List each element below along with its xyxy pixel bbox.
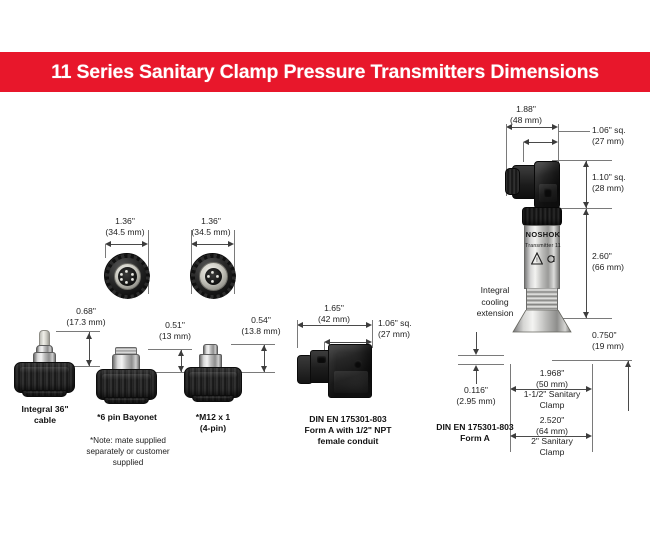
cable-arrow-up [86,333,92,339]
m12-topview-body [190,253,235,298]
tx-flange-underside [0,14,68,26]
tx-square-leader [558,131,590,132]
tx-square-arrow-right [552,139,558,145]
cable-dim-in: 0.68" [56,306,116,317]
tx-body-height-dim: 2.60" (66 mm) [592,251,646,272]
bayonet-knurled-cap [96,369,157,400]
tx-din-connector [534,161,560,209]
tx-flange-thickness-mm: (2.95 mm) [447,396,505,407]
cable-dim: 0.68" (17.3 mm) [56,306,116,327]
m12-topview-dim-mm: (34.5 mm) [181,227,241,238]
din-ext-left [297,320,298,348]
tx-overall-width-dim: 1.88" (48 mm) [497,104,555,125]
cooling-callout-line1: Integral [465,285,525,297]
m12-topview-dim: 1.36" (34.5 mm) [181,216,241,237]
din-square-dim: 1.06" sq. (27 mm) [378,318,436,339]
din-screw-hole [354,360,362,368]
tx-clamp-15-label1: 1-1/2" Sanitary [518,389,586,400]
m12-topview-dim-line [196,244,229,245]
tx-clamp-15-line [515,389,589,390]
din-caption-line1: DIN EN 175301-803 [296,414,400,425]
bayonet-topview-dim-mm: (34.5 mm) [95,227,155,238]
tx-bottom-caption: DIN EN 175301-803 Form A [425,422,525,444]
tx-clamp-2-line [515,436,589,437]
header-banner: 11 Series Sanitary Clamp Pressure Transm… [0,52,650,92]
m12-dim-in: 0.54" [231,315,291,326]
tx-flange-height-in: 0.750" [592,330,646,341]
m12-ext-top [231,344,275,345]
certification-mark-icon [547,253,558,265]
din-square-dim-in: 1.06" sq. [378,318,436,329]
cable-caption-line2: cable [6,415,84,426]
pin [211,280,214,283]
cable-ext-top [56,331,100,332]
page-title: 11 Series Sanitary Clamp Pressure Transm… [51,61,599,84]
din-square-line [329,342,367,343]
pin [131,278,134,281]
tx-thk-ext-top [458,355,504,356]
bayonet-caption: *6 pin Bayonet [86,412,168,423]
din-caption-line3: female conduit [296,436,400,447]
m12-topview-dim-in: 1.36" [181,216,241,227]
footnote-line2: separately or customer [80,446,176,457]
tx-square-ext-left [523,142,524,162]
tx-bottom-caption-line2: Form A [425,433,525,444]
bayonet-topview-dim: 1.36" (34.5 mm) [95,216,155,237]
cable-arrow-down [86,360,92,366]
tx-clamp-15-in: 1.968" [518,368,586,379]
tx-square-height-mm: (28 mm) [592,183,646,194]
m12-caption-line2: (4-pin) [176,423,250,434]
bayonet-topview-body [104,253,149,298]
svg-text:!: ! [536,258,538,264]
tx-overall-width-line [511,127,555,128]
bayonet-ext-top [148,349,192,350]
tx-clamp-2-mm: (64 mm) [518,426,586,437]
tx-model-label: Transmitter 11 [525,243,561,249]
tx-rotating-collar [522,207,562,226]
din-caption-line2: Form A with 1/2" NPT [296,425,400,436]
footnote: *Note: mate supplied separately or custo… [80,435,176,468]
tx-body-arrow-up [583,209,589,215]
din-ext-right [372,320,373,348]
pin [125,281,128,284]
tx-brand-label: NOSHOK [525,230,561,239]
tx-flange-arrow-up [625,361,631,367]
m12-dim: 0.54" (13.8 mm) [231,315,291,336]
bayonet-dim: 0.51" (13 mm) [148,320,202,341]
tx-din-screw [544,188,552,197]
tx-sanitary-flange [0,0,76,14]
bayonet-ext-left [105,244,106,258]
pin [120,273,123,276]
tx-thk-arrow-up [473,365,479,371]
cable-caption-line1: Integral 36" [6,404,84,415]
m12-knurled-cap [184,367,242,398]
tx-square-height-line [586,161,587,208]
pin [207,275,210,278]
tx-clamp-15-mm: (50 mm) [518,379,586,390]
tx-clamp-2-arrow-right [586,433,592,439]
din-width-dim-in: 1.65" [308,303,360,314]
m12-caption: *M12 x 1 (4-pin) [176,412,250,434]
bayonet-insert [118,267,137,286]
bayonet-arrow-down [178,366,184,372]
tx-clamp-ext-right [592,364,593,452]
m12-dim-mm: (13.8 mm) [231,326,291,337]
bayonet-dim-in: 0.51" [148,320,202,331]
tx-clamp-15-label2: Clamp [518,400,586,411]
bayonet-topview-dim-in: 1.36" [95,216,155,227]
warning-triangle-icon: ! [531,252,543,265]
cooling-callout-line2: cooling [465,297,525,309]
tx-bottom-caption-line1: DIN EN 175301-803 [425,422,525,433]
tx-flange-thickness-dim: 0.116" (2.95 mm) [447,385,505,406]
tx-square-height-in: 1.10" sq. [592,172,646,183]
footnote-line1: *Note: mate supplied [80,435,176,446]
din-neck-hole [317,356,326,363]
din-width-dim: 1.65" (42 mm) [308,303,360,324]
tx-flange-height-mm: (19 mm) [592,341,646,352]
tx-flange-ext-bot [552,360,632,361]
tx-body-height-mm: (66 mm) [592,262,646,273]
tx-clamp-2-in: 2.520" [518,415,586,426]
m12-cap-base [192,395,234,402]
tx-cable-gland [505,168,520,195]
tx-flange-height-line [628,361,629,411]
tx-cone-transition [510,310,574,336]
tx-thk-ext-bot [458,364,504,365]
m12-arrow-up [261,345,267,351]
footnote-line3: supplied [80,457,176,468]
din-width-line [302,325,369,326]
tx-square-width-in: 1.06" sq. [592,125,646,136]
m12-arrow-down [261,366,267,372]
din-connector-body [328,344,372,398]
bayonet-topview-dim-line [110,244,143,245]
din-face-plate [334,371,368,393]
diagram-page: 11 Series Sanitary Clamp Pressure Transm… [0,0,650,536]
tx-body-barrel: NOSHOK Transmitter 11 ! [524,225,560,289]
pin [125,270,128,273]
m12-insert [205,268,222,285]
tx-square-height-dim: 1.10" sq. (28 mm) [592,172,646,193]
pin [211,271,214,274]
tx-body-height-in: 2.60" [592,251,646,262]
pin [131,273,134,276]
din-caption: DIN EN 175301-803 Form A with 1/2" NPT f… [296,414,400,447]
bayonet-cap-base [104,397,149,404]
bayonet-dim-mm: (13 mm) [148,331,202,342]
tx-body-arrow-down [583,312,589,318]
tx-flange-thickness-in: 0.116" [447,385,505,396]
m12-caption-line1: *M12 x 1 [176,412,250,423]
tx-overall-width-in: 1.88" [497,104,555,115]
cable-cap-base [22,390,67,397]
cable-caption: Integral 36" cable [6,404,84,426]
cable-knurled-cap [14,362,75,393]
pin [120,278,123,281]
tx-clamp-2-label2: Clamp [518,447,586,458]
din-width-dim-mm: (42 mm) [308,314,360,325]
cable-dim-mm: (17.3 mm) [56,317,116,328]
tx-sq-h-ext-top [552,160,612,161]
bayonet-arrow-up [178,350,184,356]
tx-clamp-2-label1: 2" Sanitary [518,436,586,447]
tx-thk-arrow-down [473,349,479,355]
bayonet-caption-line1: *6 pin Bayonet [86,412,168,423]
tx-cooling-fins [526,288,558,312]
din-square-dim-mm: (27 mm) [378,329,436,340]
pin [216,275,219,278]
tx-flange-height-dim: 0.750" (19 mm) [592,330,646,351]
tx-square-width-mm: (27 mm) [592,136,646,147]
tx-body-height-line [586,209,587,318]
tx-sq-h-arrow-up [583,161,589,167]
tx-square-width-dim: 1.06" sq. (27 mm) [592,125,646,146]
